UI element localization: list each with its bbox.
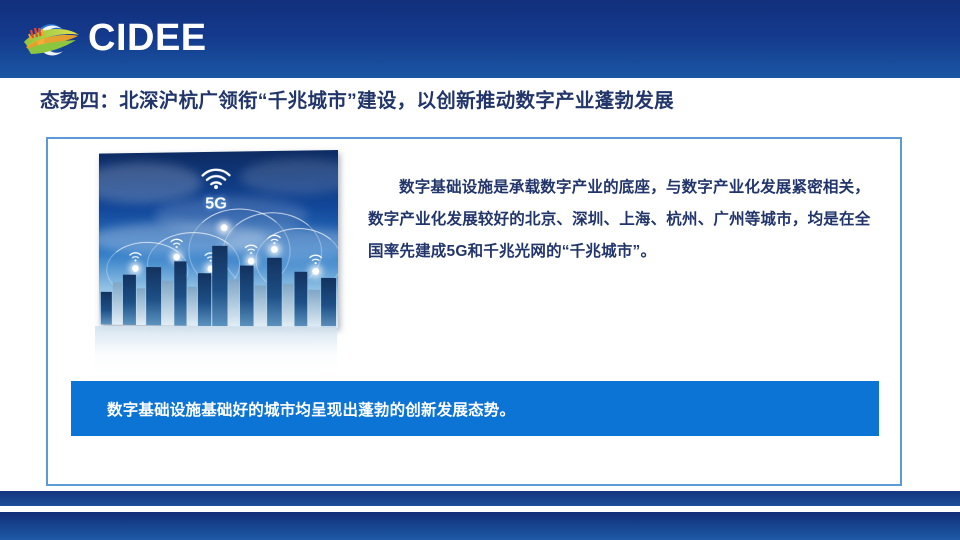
city-skyline	[99, 240, 338, 328]
cloud-shape	[99, 162, 202, 204]
cloud-shape	[240, 158, 338, 195]
slide-header-bar: CIDEE	[0, 0, 960, 78]
footer-bar-upper	[0, 491, 960, 506]
wifi-signal-icon	[200, 167, 232, 189]
image-reflection	[95, 326, 337, 372]
highlight-banner-text: 数字基础设施基础好的城市均呈现出蓬勃的创新发展态势。	[107, 398, 515, 420]
cidee-globe-swoosh-logo-icon	[22, 16, 82, 62]
network-node	[221, 224, 228, 231]
body-paragraph: 数字基础设施是承载数字产业的底座，与数字产业化发展紧密相关，数字产业化发展较好的…	[368, 172, 880, 268]
brand-wordmark: CIDEE	[88, 14, 207, 62]
footer-bar-lower	[0, 512, 960, 540]
fiveg-overlay: 5G	[200, 167, 232, 212]
page-title: 态势四：北深沪杭广领衔“千兆城市”建设，以创新推动数字产业蓬勃发展	[40, 84, 930, 113]
highlight-banner: 数字基础设施基础好的城市均呈现出蓬勃的创新发展态势。	[71, 381, 879, 436]
image-frame: 5G	[99, 150, 338, 328]
smart-city-5g-image: 5G	[85, 150, 342, 374]
